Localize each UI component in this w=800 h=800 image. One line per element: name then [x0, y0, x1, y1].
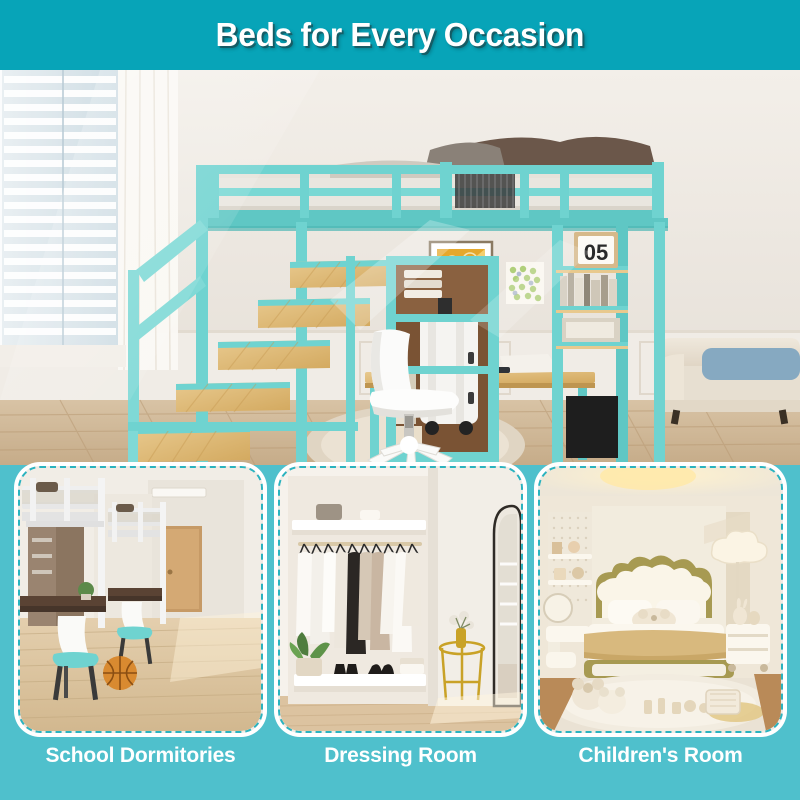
card-dashed-border: [18, 466, 263, 733]
hero-image: 05: [0, 70, 800, 465]
page-title: Beds for Every Occasion: [216, 16, 584, 54]
card-frame: [274, 462, 527, 737]
thumbnail-card-childrens-room[interactable]: Children's Room: [534, 462, 787, 737]
dormitory-illustration: [20, 468, 261, 731]
card-dashed-border: [278, 466, 523, 733]
dressing-room-illustration: [280, 468, 521, 731]
card-frame: [534, 462, 787, 737]
hero-illustration: 05: [0, 70, 800, 465]
card-dashed-border: [538, 466, 783, 733]
thumbnail-label-school-dormitories: School Dormitories: [14, 744, 267, 768]
thumbnail-row: School Dormitories: [0, 462, 800, 740]
header-banner: Beds for Every Occasion: [0, 0, 800, 70]
card-frame: [14, 462, 267, 737]
product-marketing-image: Beds for Every Occasion: [0, 0, 800, 800]
thumbnail-label-dressing-room: Dressing Room: [274, 744, 527, 768]
childrens-room-illustration: [540, 468, 781, 731]
thumbnail-card-school-dormitories[interactable]: School Dormitories: [14, 462, 267, 737]
thumbnail-label-childrens-room: Children's Room: [534, 744, 787, 768]
thumbnail-card-dressing-room[interactable]: Dressing Room: [274, 462, 527, 737]
